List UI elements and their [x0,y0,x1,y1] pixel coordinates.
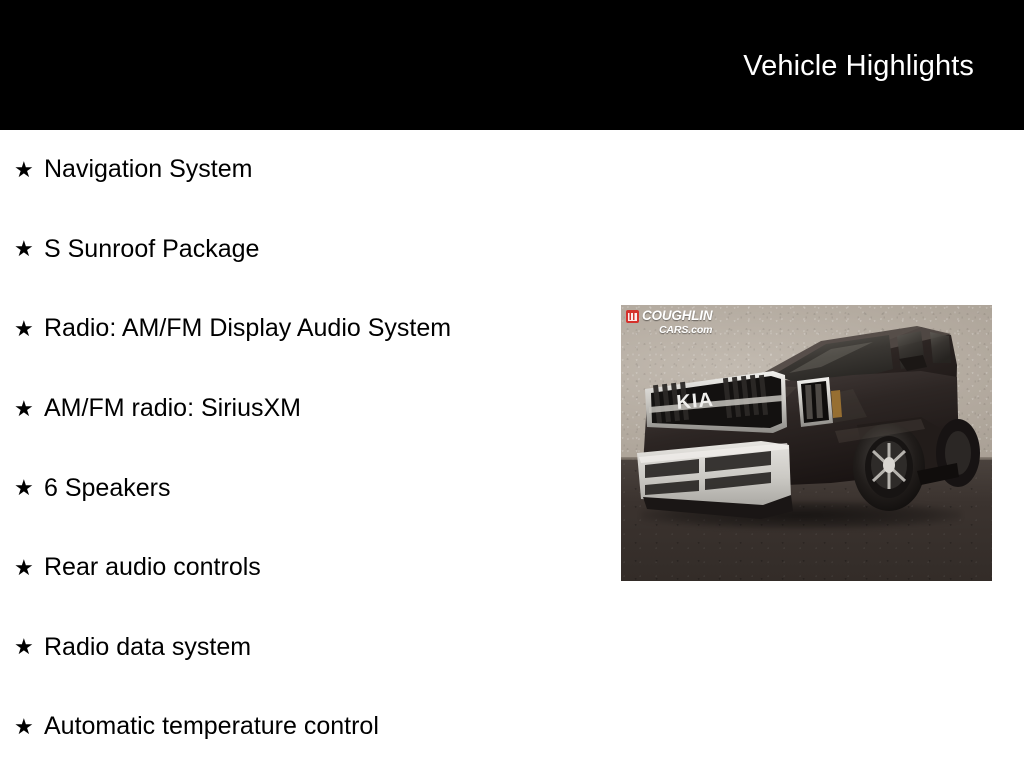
list-item-label: Radio data system [44,633,251,662]
list-item-label: Automatic temperature control [44,712,379,741]
star-icon: ★ [14,636,44,658]
list-item-label: Radio: AM/FM Display Audio System [44,314,451,343]
vehicle-illustration: KIA [621,305,992,581]
list-item: ★ Rear audio controls [0,528,620,608]
list-item: ★ Navigation System [0,130,620,210]
star-icon: ★ [14,318,44,340]
kia-badge-icon: KIA [676,389,715,414]
list-item-label: S Sunroof Package [44,235,259,264]
star-icon: ★ [14,557,44,579]
list-item: ★ 6 Speakers [0,448,620,528]
list-item: ★ S Sunroof Package [0,210,620,290]
star-icon: ★ [14,159,44,181]
list-item: ★ Radio data system [0,608,620,688]
header-bar: Vehicle Highlights [0,0,1024,130]
star-icon: ★ [14,238,44,260]
vehicle-photo: KIA [621,305,992,581]
watermark-brand: COUGHLIN [642,309,712,323]
star-icon: ★ [14,716,44,738]
list-item-label: 6 Speakers [44,474,170,503]
list-item-label: AM/FM radio: SiriusXM [44,394,301,423]
list-item: ★ Automatic temperature control [0,687,620,767]
coughlin-logo-icon [626,310,639,323]
list-item: ★ Radio: AM/FM Display Audio System [0,289,620,369]
page-title: Vehicle Highlights [743,49,974,83]
star-icon: ★ [14,398,44,420]
list-item-label: Navigation System [44,155,252,184]
star-icon: ★ [14,477,44,499]
watermark-text: COUGHLIN CARS.com [642,309,712,335]
vehicle-highlights-list: ★ Navigation System ★ S Sunroof Package … [0,130,620,767]
watermark-domain: CARS.com [642,325,712,336]
list-item: ★ AM/FM radio: SiriusXM [0,369,620,449]
list-item-label: Rear audio controls [44,553,261,582]
vehicle-side-window-rear [930,332,951,363]
kia-badge-text: KIA [676,389,715,414]
photo-watermark: COUGHLIN CARS.com [626,309,712,335]
